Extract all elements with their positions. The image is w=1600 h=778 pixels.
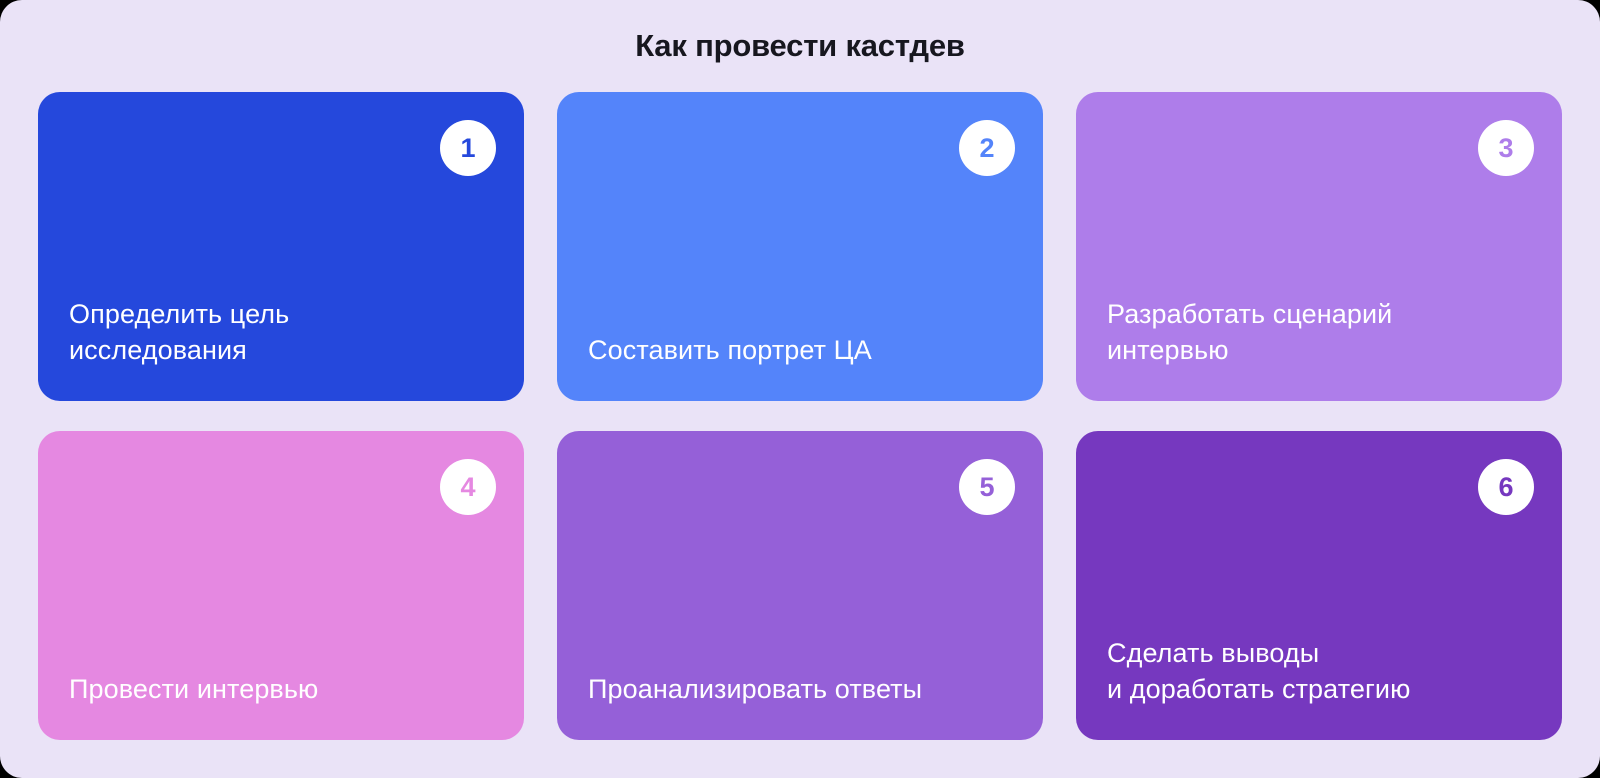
step-caption-1: Определить цель исследования	[69, 296, 493, 368]
step-card-3[interactable]: 3 Разработать сценарий интервью	[1076, 92, 1562, 401]
step-number-badge-5: 5	[959, 459, 1015, 515]
step-caption-4: Провести интервью	[69, 671, 493, 707]
step-number-5: 5	[979, 474, 994, 501]
step-number-6: 6	[1498, 474, 1513, 501]
step-caption-3: Разработать сценарий интервью	[1107, 296, 1531, 368]
step-caption-6: Сделать выводы и доработать стратегию	[1107, 635, 1531, 707]
step-number-2: 2	[979, 135, 994, 162]
step-card-4[interactable]: 4 Провести интервью	[38, 431, 524, 740]
steps-grid: 1 Определить цель исследования 2 Состави…	[38, 92, 1562, 740]
step-number-badge-4: 4	[440, 459, 496, 515]
step-number-badge-2: 2	[959, 120, 1015, 176]
step-card-6[interactable]: 6 Сделать выводы и доработать стратегию	[1076, 431, 1562, 740]
step-number-badge-6: 6	[1478, 459, 1534, 515]
page-title: Как провести кастдев	[0, 26, 1600, 66]
step-number-badge-1: 1	[440, 120, 496, 176]
step-card-2[interactable]: 2 Составить портрет ЦА	[557, 92, 1043, 401]
step-card-5[interactable]: 5 Проанализировать ответы	[557, 431, 1043, 740]
infographic-page: Как провести кастдев 1 Определить цель и…	[0, 0, 1600, 778]
step-number-4: 4	[460, 474, 475, 501]
step-number-3: 3	[1498, 135, 1513, 162]
step-caption-5: Проанализировать ответы	[588, 671, 1012, 707]
step-number-badge-3: 3	[1478, 120, 1534, 176]
step-number-1: 1	[460, 135, 475, 162]
step-card-1[interactable]: 1 Определить цель исследования	[38, 92, 524, 401]
step-caption-2: Составить портрет ЦА	[588, 332, 1012, 368]
